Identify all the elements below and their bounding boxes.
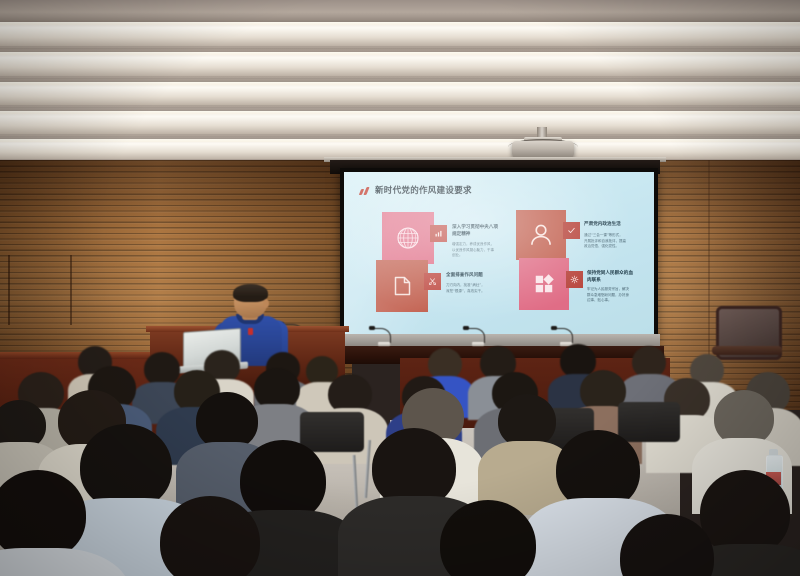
gear-icon [570,275,579,284]
presenter-lapel-badge [248,328,253,335]
tile-bottom-left [376,260,428,312]
double-slash-accent-icon [360,186,371,195]
globe-grid-icon [395,225,421,251]
badge-bottom-left [424,273,441,290]
lecture-hall-photo: 新时代党的作风建设要求 [0,0,800,576]
block-body-top-right: 通过“三会一课”等形式， 开展批评和自我批评，提高 政治觉悟、强化党性。 [584,233,650,250]
auditorium-chair [300,412,364,452]
block-body-bottom-left: 刀刃向内，找准“病灶”， 深挖“根源”，真改实干。 [446,283,520,294]
presenter-glasses-icon [237,299,261,305]
block-heading-bottom-left: 全面排查作风问题 [446,273,518,280]
tile-top-left [382,212,434,264]
projection-screen: 新时代党的作风建设要求 [344,172,654,334]
badge-top-left [430,225,447,242]
side-chair-arm [712,346,782,355]
block-body-bottom-right: 牢记为人民服务宗旨，解决 群众急难愁盼问题，办好身 边事、贴心事。 [587,287,653,304]
tile-top-right [516,210,566,260]
ceiling [0,0,800,166]
block-heading-top-right: 严肃党内政治生活 [584,222,650,229]
auditorium-chair [618,402,680,442]
badge-bottom-right [566,271,583,288]
four-squares-icon [533,273,555,295]
block-heading-top-left: 深入学习贯彻中央八项 规定精神 [452,225,522,238]
bar-chart-icon [434,229,443,238]
person-icon [528,222,554,248]
ceiling-projector [512,141,574,158]
presenter-ear [263,299,269,308]
block-body-top-left: 增强定力，养成优良作风， 以优良作风凝心聚力，干事 创业。 [452,242,524,259]
tile-bottom-right [519,258,569,310]
badge-top-right [563,222,580,239]
block-heading-bottom-right: 保持党同人民群众的血 肉联系 [587,271,653,284]
slide-title-row: 新时代党的作风建设要求 [360,184,472,196]
document-page-icon [390,274,414,298]
side-chair [712,306,782,368]
slide-title: 新时代党的作风建设要求 [375,184,472,196]
check-mark-icon [567,226,576,235]
wood-slat-wall-right [652,160,800,410]
scissors-icon [428,277,437,286]
